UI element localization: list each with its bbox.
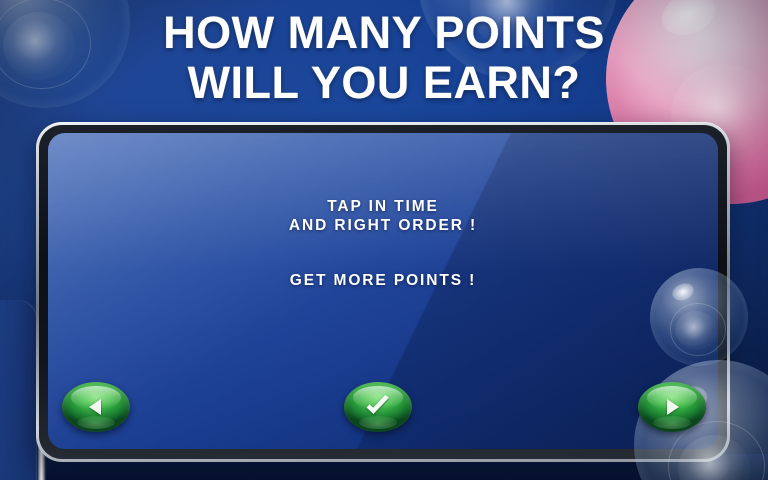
checkmark-icon — [344, 382, 412, 432]
confirm-button[interactable] — [344, 382, 412, 432]
promo-screenshot: HOW MANY POINTS WILL YOU EARN? TAP IN TI… — [0, 0, 768, 480]
secondary-device — [0, 300, 38, 480]
reward-block: GET MORE POINTS ! — [48, 271, 718, 290]
previous-button[interactable] — [62, 382, 130, 432]
triangle-right-icon — [638, 382, 706, 432]
next-button[interactable] — [638, 382, 706, 432]
screen-copy: TAP IN TIME AND RIGHT ORDER ! GET MORE P… — [48, 197, 718, 290]
headline: HOW MANY POINTS WILL YOU EARN? — [0, 8, 768, 108]
instruction-line-2: AND RIGHT ORDER ! — [48, 216, 718, 235]
copy-spacer — [48, 235, 718, 271]
triangle-left-icon — [62, 382, 130, 432]
headline-line-1: HOW MANY POINTS — [0, 8, 768, 58]
headline-line-2: WILL YOU EARN? — [0, 58, 768, 108]
instruction-block: TAP IN TIME AND RIGHT ORDER ! — [48, 197, 718, 235]
instruction-line-1: TAP IN TIME — [48, 197, 718, 216]
reward-line: GET MORE POINTS ! — [48, 271, 718, 290]
